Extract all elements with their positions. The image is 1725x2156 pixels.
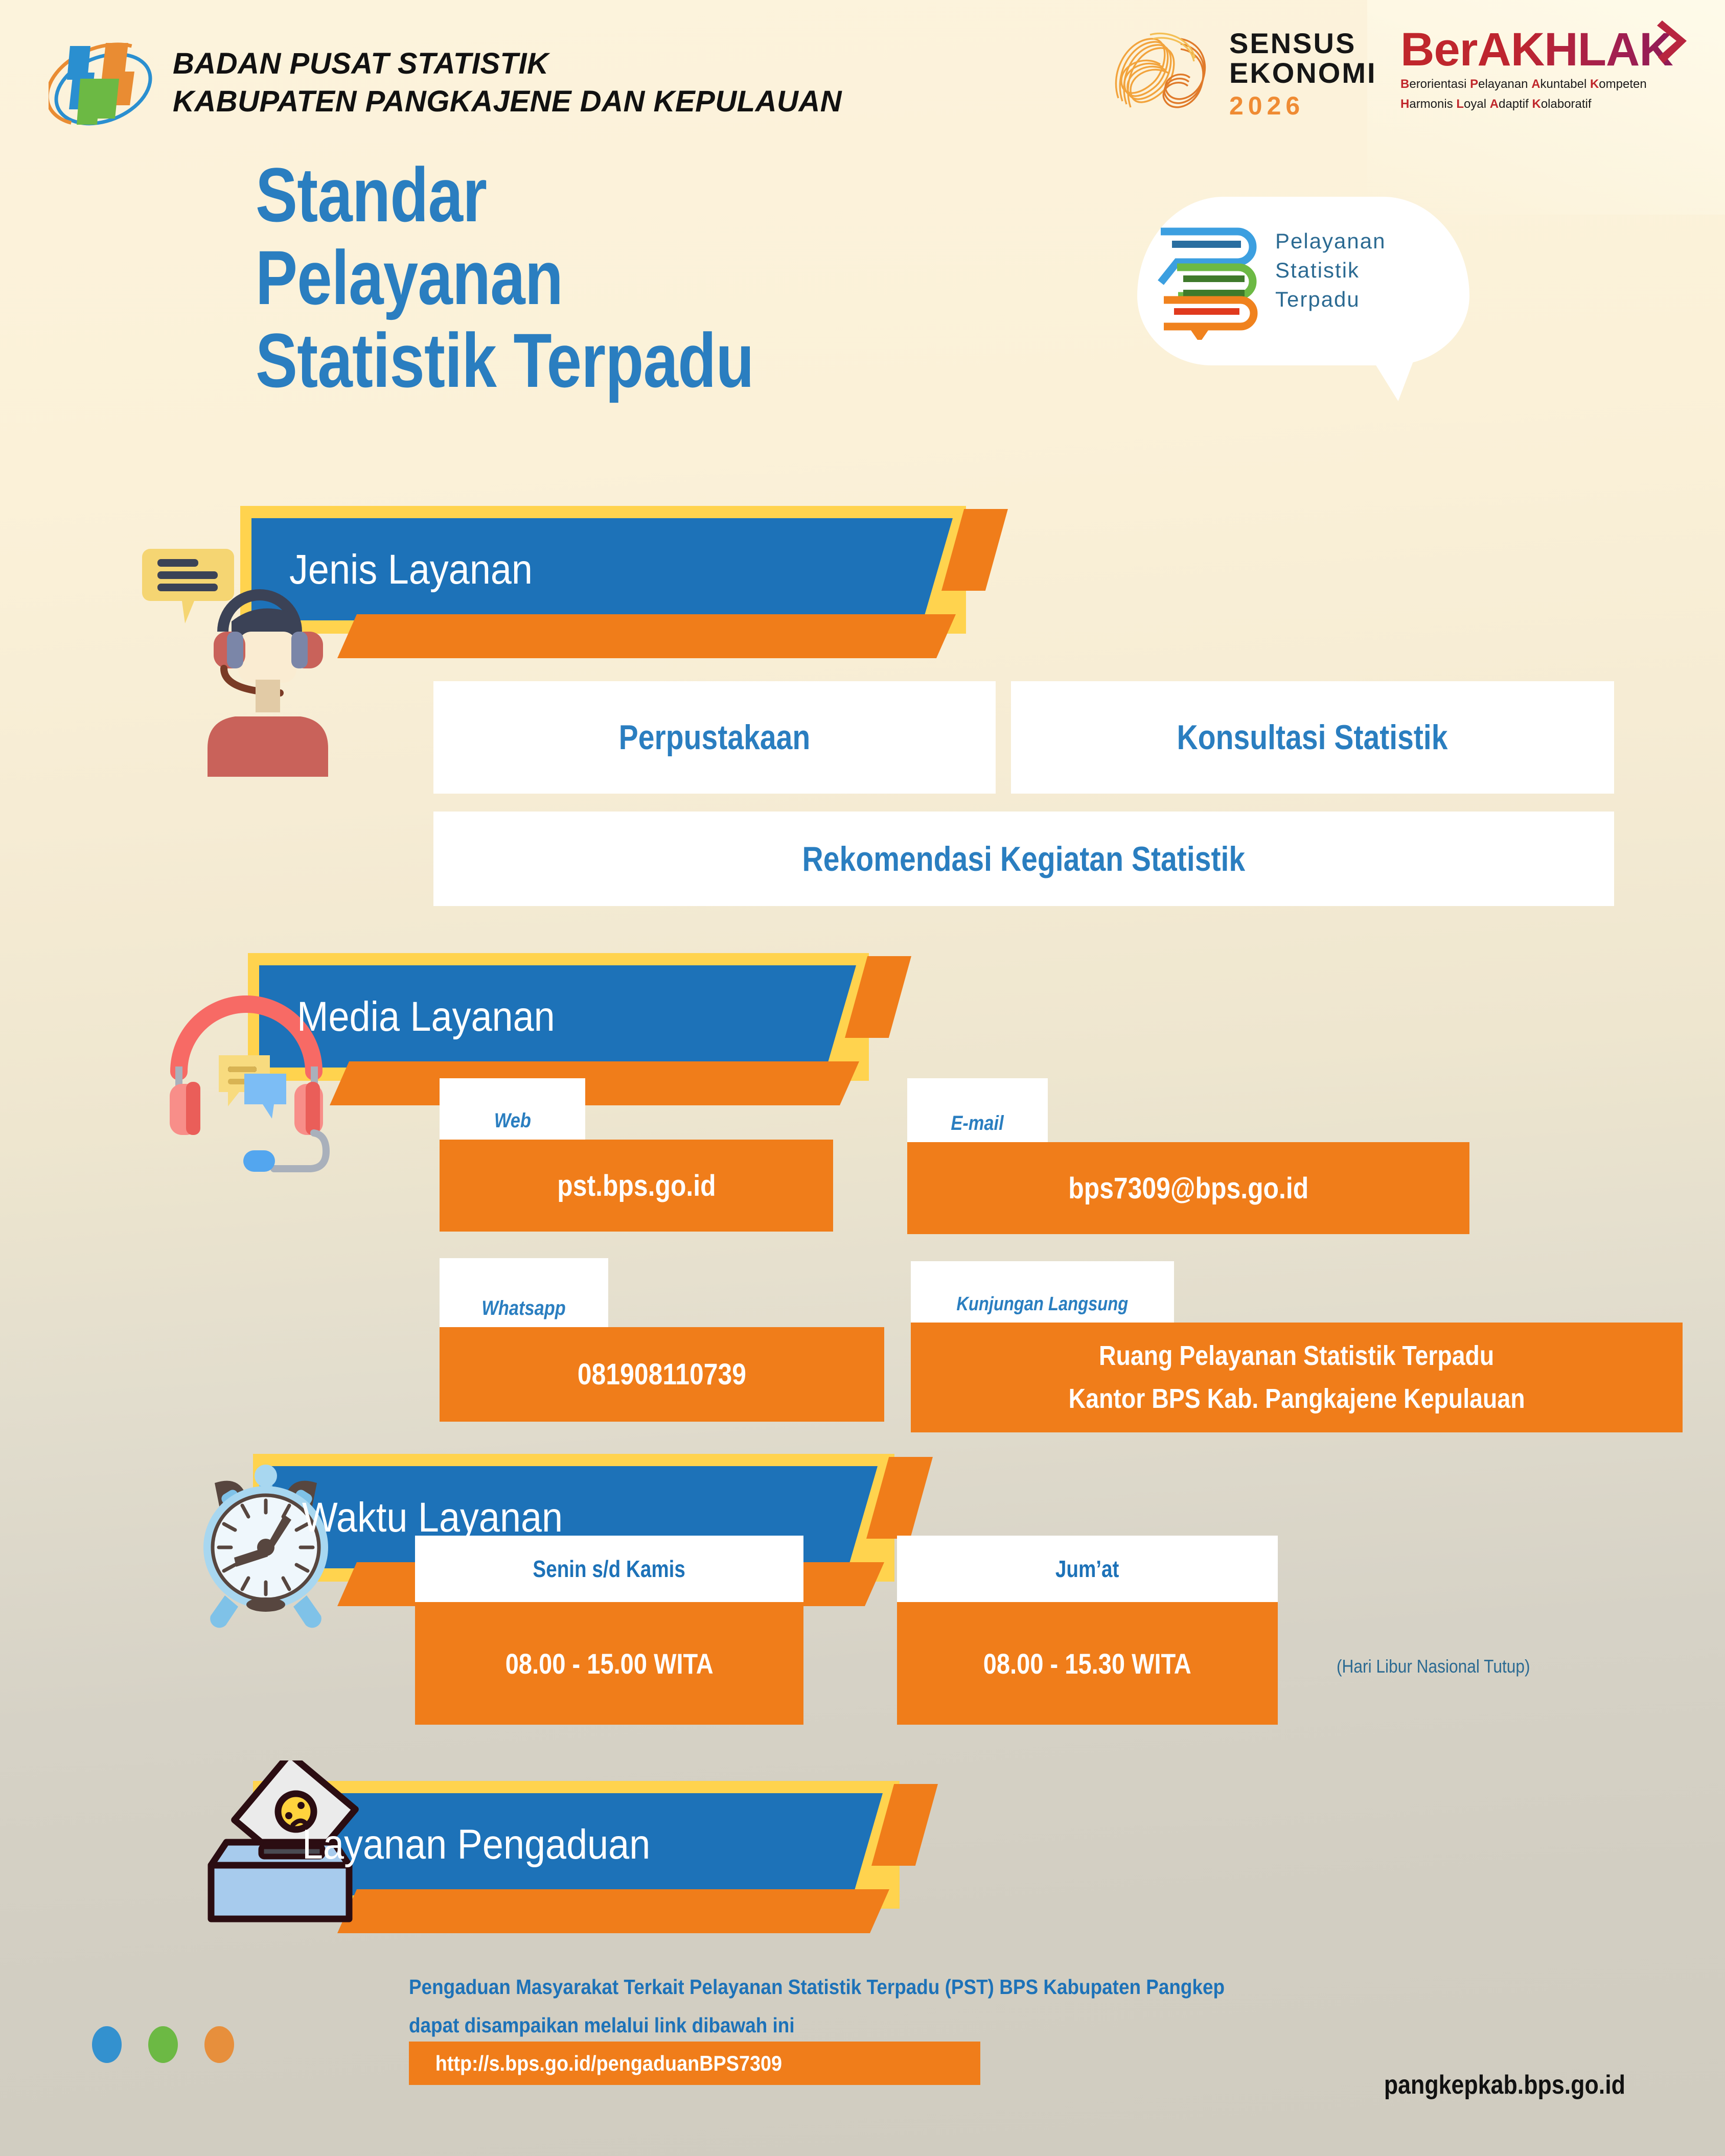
hours-card-time: 08.00 - 15.00 WITA — [415, 1602, 803, 1725]
media-tile-label: E-mail — [907, 1078, 1048, 1142]
hours-card-time: 08.00 - 15.30 WITA — [897, 1602, 1278, 1725]
banner-pengaduan-label: Layanan Pengaduan — [302, 1801, 650, 1888]
sensus-ribbon-icon — [1104, 21, 1237, 129]
media-tile-value[interactable]: 081908110739 — [440, 1327, 884, 1422]
hours-card-weekday: Senin s/d Kamis 08.00 - 15.00 WITA — [415, 1536, 803, 1725]
media-tile-value[interactable]: Ruang Pelayanan Statistik Terpadu Kantor… — [911, 1323, 1683, 1432]
footer-website: pangkepkab.bps.go.id — [1384, 2070, 1625, 2100]
title-line-1: Standar — [256, 153, 1052, 236]
dot-orange — [204, 2026, 234, 2063]
banner-media-label: Media Layanan — [297, 973, 555, 1060]
section-jenis-layanan: Jenis Layanan — [240, 506, 992, 634]
pst-line-2: Statistik — [1275, 256, 1386, 285]
media-tile-label: Web — [440, 1078, 585, 1140]
page-title: Standar Pelayanan Statistik Terpadu — [256, 153, 1052, 402]
berakhlak-subtitle-2: Harmonis Loyal Adaptif Kolaboratif — [1400, 96, 1697, 112]
title-line-3: Statistik Terpadu — [256, 319, 1052, 402]
banner-jenis-label: Jenis Layanan — [289, 526, 533, 613]
pst-logo-bubble: Pelayanan Statistik Terpadu — [1137, 197, 1469, 401]
hours-card-friday: Jum’at 08.00 - 15.30 WITA — [897, 1536, 1278, 1725]
berakhlak-title: BerAKHLAK — [1400, 27, 1673, 73]
media-tile-value[interactable]: bps7309@bps.go.id — [907, 1142, 1469, 1234]
pst-books-icon — [1157, 222, 1269, 340]
service-card-perpustakaan[interactable]: Perpustakaan — [433, 681, 996, 794]
service-card-label: Rekomendasi Kegiatan Statistik — [802, 839, 1246, 879]
complaint-link[interactable]: http://s.bps.go.id/pengaduanBPS7309 — [409, 2042, 980, 2085]
banner-orange-ribbon — [337, 1889, 889, 1933]
sensus-wordmark: SENSUS EKONOMI 2026 — [1229, 29, 1372, 121]
berakhlak-subtitle-1: Berorientasi Pelayanan Akuntabel Kompete… — [1400, 76, 1697, 92]
chevron-right-icon — [1656, 18, 1694, 65]
complaint-text-line-1: Pengaduan Masyarakat Terkait Pelayanan S… — [409, 1970, 1225, 2004]
dot-blue — [92, 2026, 122, 2063]
hours-card-day: Jum’at — [897, 1536, 1278, 1602]
sensus-line-1: SENSUS — [1229, 29, 1372, 58]
banner-orange-ribbon — [337, 614, 956, 658]
media-tile-label: Kunjungan Langsung — [911, 1261, 1174, 1323]
complaint-text-line-2: dapat disampaikan melalui link dibawah i… — [409, 2008, 795, 2042]
bps-wordmark: BADAN PUSAT STATISTIK KABUPATEN PANGKAJE… — [173, 45, 842, 121]
title-line-2: Pelayanan — [256, 236, 1052, 319]
poster-canvas: BADAN PUSAT STATISTIK KABUPATEN PANGKAJE… — [0, 0, 1725, 2156]
berakhlak-logo: BerAKHLAK Berorientasi Pelayanan Akuntab… — [1400, 27, 1697, 129]
sensus-ekonomi-logo: SENSUS EKONOMI 2026 — [1104, 21, 1370, 129]
bps-line-2: KABUPATEN PANGKAJENE DAN KEPULAUAN — [173, 83, 842, 121]
service-card-label: Perpustakaan — [619, 717, 811, 757]
banner-waktu-label: Waktu Layanan — [302, 1474, 563, 1561]
media-tile-value[interactable]: pst.bps.go.id — [440, 1140, 833, 1232]
service-card-konsultasi[interactable]: Konsultasi Statistik — [1011, 681, 1614, 794]
pst-wordmark: Pelayanan Statistik Terpadu — [1275, 226, 1386, 314]
media-tile-label: Whatsapp — [440, 1258, 608, 1327]
pst-line-1: Pelayanan — [1275, 226, 1386, 256]
sensus-line-2: EKONOMI — [1229, 58, 1372, 88]
decorative-dots — [92, 2026, 234, 2063]
bps-logo-icon — [49, 32, 158, 142]
service-card-rekomendasi[interactable]: Rekomendasi Kegiatan Statistik — [433, 812, 1614, 906]
pst-line-3: Terpadu — [1275, 285, 1386, 314]
banner-jenis-layanan: Jenis Layanan — [240, 506, 992, 634]
sensus-year: 2026 — [1229, 91, 1372, 121]
banner-orange-ribbon — [330, 1061, 859, 1105]
dot-green — [148, 2026, 178, 2063]
service-card-label: Konsultasi Statistik — [1177, 717, 1448, 757]
bps-line-1: BADAN PUSAT STATISTIK — [173, 45, 842, 83]
holiday-note: (Hari Libur Nasional Tutup) — [1337, 1656, 1530, 1677]
